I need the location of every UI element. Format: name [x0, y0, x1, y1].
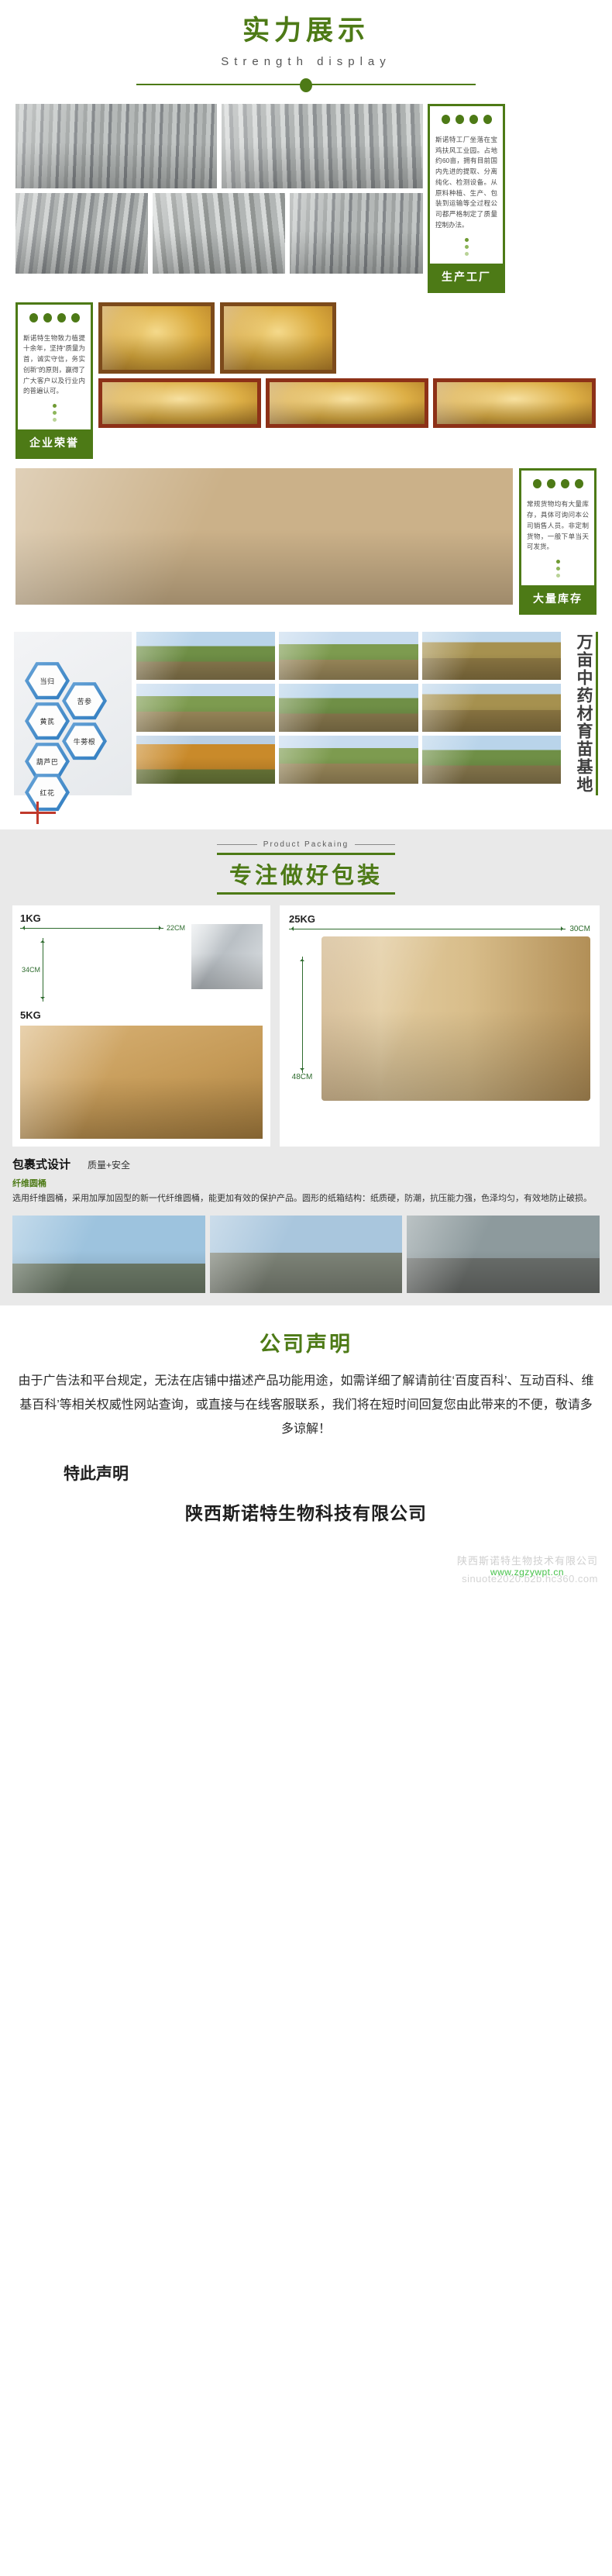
dot-row-icon [533, 479, 583, 488]
herb-photo-seedling-rows [279, 684, 418, 732]
hero-header: 实力展示 Strength display [0, 0, 612, 104]
packaging-25kg-card: 25KG 30CM 48CM [280, 905, 600, 1147]
herb-photo-grid [136, 632, 561, 795]
packaging-eyebrow: Product Packaing [12, 840, 600, 849]
factory-photo-extraction-tanks [222, 104, 423, 188]
packaging-25kg-drum-photo [321, 936, 590, 1101]
dot-row-icon [29, 313, 80, 322]
herb-photo-flower-field [136, 736, 275, 784]
section-statement: 公司声明 由于广告法和平台规定，无法在店铺中描述产品功能用途，如需详细了解请前往… [0, 1305, 612, 1533]
page-title: 实力展示 [0, 14, 612, 48]
section-factory: 斯诺特工厂坐落在宝鸡扶风工业园。占地约60亩，拥有目前国内先进的提取、分离纯化、… [0, 104, 612, 293]
factory-info-card: 斯诺特工厂坐落在宝鸡扶风工业园。占地约60亩，拥有目前国内先进的提取、分离纯化、… [428, 104, 505, 293]
page-subtitle: Strength display [0, 55, 612, 68]
honor-label: 企业荣誉 [18, 429, 91, 457]
vertical-dots-icon [53, 404, 57, 422]
statement-paragraph: 由于广告法和平台规定，无法在店铺中描述产品功能用途，如需详细了解请前往‘百度百科… [15, 1370, 597, 1441]
packaging-5kg-title: 5KG [20, 1009, 263, 1021]
logistics-photo-air-freight [12, 1216, 205, 1293]
certificate-photo-red-2 [266, 378, 428, 428]
section-stock: 常规货物均有大量库存，具体可询问本公司销售人员。非定制货物，一般下单当天可发货。… [0, 459, 612, 615]
factory-label: 生产工厂 [430, 264, 503, 291]
vertical-dots-icon [465, 238, 469, 256]
packaging-footer-highlight: 纤维圆桶 [12, 1177, 600, 1189]
vertical-dots-icon [556, 560, 560, 578]
herb-photo-leaf-closeup [422, 736, 561, 784]
herb-hexagon-cluster: 当归 苦参 黄芪 牛蒡根 葫芦巴 红花 [14, 632, 132, 795]
honor-photo-grid [98, 302, 597, 460]
logistics-photo-loading-dock [407, 1216, 600, 1293]
hexagon-herb-3: 牛蒡根 [62, 722, 107, 760]
divider-vertical [36, 802, 39, 824]
herb-photo-harvest [279, 736, 418, 784]
herb-photo-planting [136, 684, 275, 732]
hexagon-herb-0: 当归 [25, 661, 70, 700]
packaging-footer-paragraph: 选用纤维圆桶，采用加厚加固型的新一代纤维圆桶，能更加有效的保护产品。圆形的纸箱结… [12, 1191, 600, 1206]
certificate-photo-red-3 [433, 378, 596, 428]
section-herb-base: 当归 苦参 黄芪 牛蒡根 葫芦巴 红花 [0, 615, 612, 795]
packaging-1kg-bag-photo [191, 924, 263, 989]
factory-photo-pipe-hall [15, 193, 148, 274]
packaging-title: 专注做好包装 [217, 853, 395, 895]
hexagon-label: 牛蒡根 [66, 726, 103, 757]
packaging-1kg-height-dim: 34CM [22, 938, 48, 1002]
factory-description: 斯诺特工厂坐落在宝鸡扶风工业园。占地约60亩，拥有目前国内先进的提取、分离纯化、… [430, 135, 503, 231]
product-detail-page: 实力展示 Strength display 斯诺特工厂坐 [0, 0, 612, 1613]
hexagon-label: 黄芪 [29, 705, 66, 737]
arrow-vertical-icon [43, 938, 43, 1002]
arrow-vertical-icon [302, 957, 303, 1073]
watermark: 陕西斯诺特生物技术有限公司 sinuote2020.b2b.hc360.com … [0, 1547, 612, 1613]
packaging-25kg-width-label: 30CM [569, 925, 590, 933]
herb-base-title: 万亩中药材育苗基地 [570, 632, 598, 795]
section-packaging: Product Packaing 专注做好包装 1KG 22CM [0, 829, 612, 1305]
packaging-1kg-title: 1KG [20, 912, 263, 924]
packaging-footer-title: 包裹式设计 [12, 1156, 70, 1172]
packaging-eyebrow-text: Product Packaing [263, 840, 349, 849]
packaging-25kg-width-dim: 30CM [289, 925, 590, 933]
herb-photo-field-workers-1 [136, 632, 275, 680]
watermark-company: 陕西斯诺特生物技术有限公司 [457, 1553, 598, 1567]
packaging-25kg-height-label: 48CM [292, 1073, 313, 1081]
hero-divider [0, 76, 612, 93]
packaging-left-column: 1KG 22CM 34CM [12, 905, 270, 1147]
section-divider-cross [0, 795, 612, 829]
packaging-1kg-width-label: 22CM [167, 924, 185, 932]
section-honor: 斯诺特生物致力植提十余年，坚持“质量为首，诚实守信，务实创新”的原则，赢得了广大… [0, 293, 612, 460]
honor-info-card: 斯诺特生物致力植提十余年，坚持“质量为首，诚实守信，务实创新”的原则，赢得了广大… [15, 302, 93, 460]
stock-label: 大量库存 [521, 585, 594, 612]
factory-photo-grid [15, 104, 423, 293]
honor-description: 斯诺特生物致力植提十余年，坚持“质量为首，诚实守信，务实创新”的原则，赢得了广大… [18, 333, 91, 398]
eyebrow-line-left [217, 844, 257, 845]
packaging-1kg-card: 1KG 22CM 34CM [12, 905, 270, 1147]
packaging-1kg-width-dim: 22CM [20, 924, 185, 932]
warehouse-photo [15, 468, 513, 605]
packaging-header: Product Packaing 专注做好包装 [12, 840, 600, 895]
hexagon-label: 当归 [29, 665, 66, 697]
arrow-horizontal-icon [289, 929, 566, 929]
stock-description: 常规货物均有大量库存，具体可询问本公司销售人员。非定制货物，一般下单当天可发货。 [521, 499, 594, 553]
statement-company-name: 陕西斯诺特生物科技有限公司 [15, 1498, 597, 1525]
watermark-url-green: www.zgzywpt.cn [490, 1567, 564, 1578]
statement-subtitle: 特此声明 [15, 1461, 597, 1485]
hexagon-herb-2: 黄芪 [25, 702, 70, 740]
packaging-1kg-height-label: 34CM [22, 966, 40, 974]
packaging-footer-subtitle: 质量+安全 [88, 1158, 130, 1171]
packaging-footer: 包裹式设计 质量+安全 纤维圆桶 选用纤维圆桶，采用加厚加固型的新一代纤维圆桶，… [12, 1156, 600, 1206]
certificate-photo-gold-1 [98, 302, 215, 374]
certificate-photo-gold-2 [220, 302, 336, 374]
statement-title: 公司声明 [15, 1327, 597, 1357]
factory-photo-reactor-line [290, 193, 423, 274]
packaging-5kg-carton-photo [20, 1026, 263, 1139]
herb-photo-field-workers-2 [279, 632, 418, 680]
divider-dot [300, 78, 312, 92]
logistics-photo-truck [210, 1216, 403, 1293]
logistics-photo-row [12, 1216, 600, 1293]
factory-photo-distillation-columns [15, 104, 217, 188]
hexagon-label: 苦参 [66, 685, 103, 717]
packaging-25kg-title: 25KG [289, 913, 590, 925]
arrow-horizontal-icon [20, 928, 163, 929]
hexagon-label: 葫芦巴 [29, 746, 66, 778]
factory-photo-evaporator [153, 193, 285, 274]
herb-photo-field-wide [422, 684, 561, 732]
packaging-25kg-height-dim: 48CM [289, 936, 315, 1101]
hexagon-herb-1: 苦参 [62, 681, 107, 720]
herb-photo-hillside [422, 632, 561, 680]
certificate-photo-red-1 [98, 378, 261, 428]
dot-row-icon [442, 115, 492, 124]
stock-info-card: 常规货物均有大量库存，具体可询问本公司销售人员。非定制货物，一般下单当天可发货。… [519, 468, 597, 615]
eyebrow-line-right [355, 844, 395, 845]
